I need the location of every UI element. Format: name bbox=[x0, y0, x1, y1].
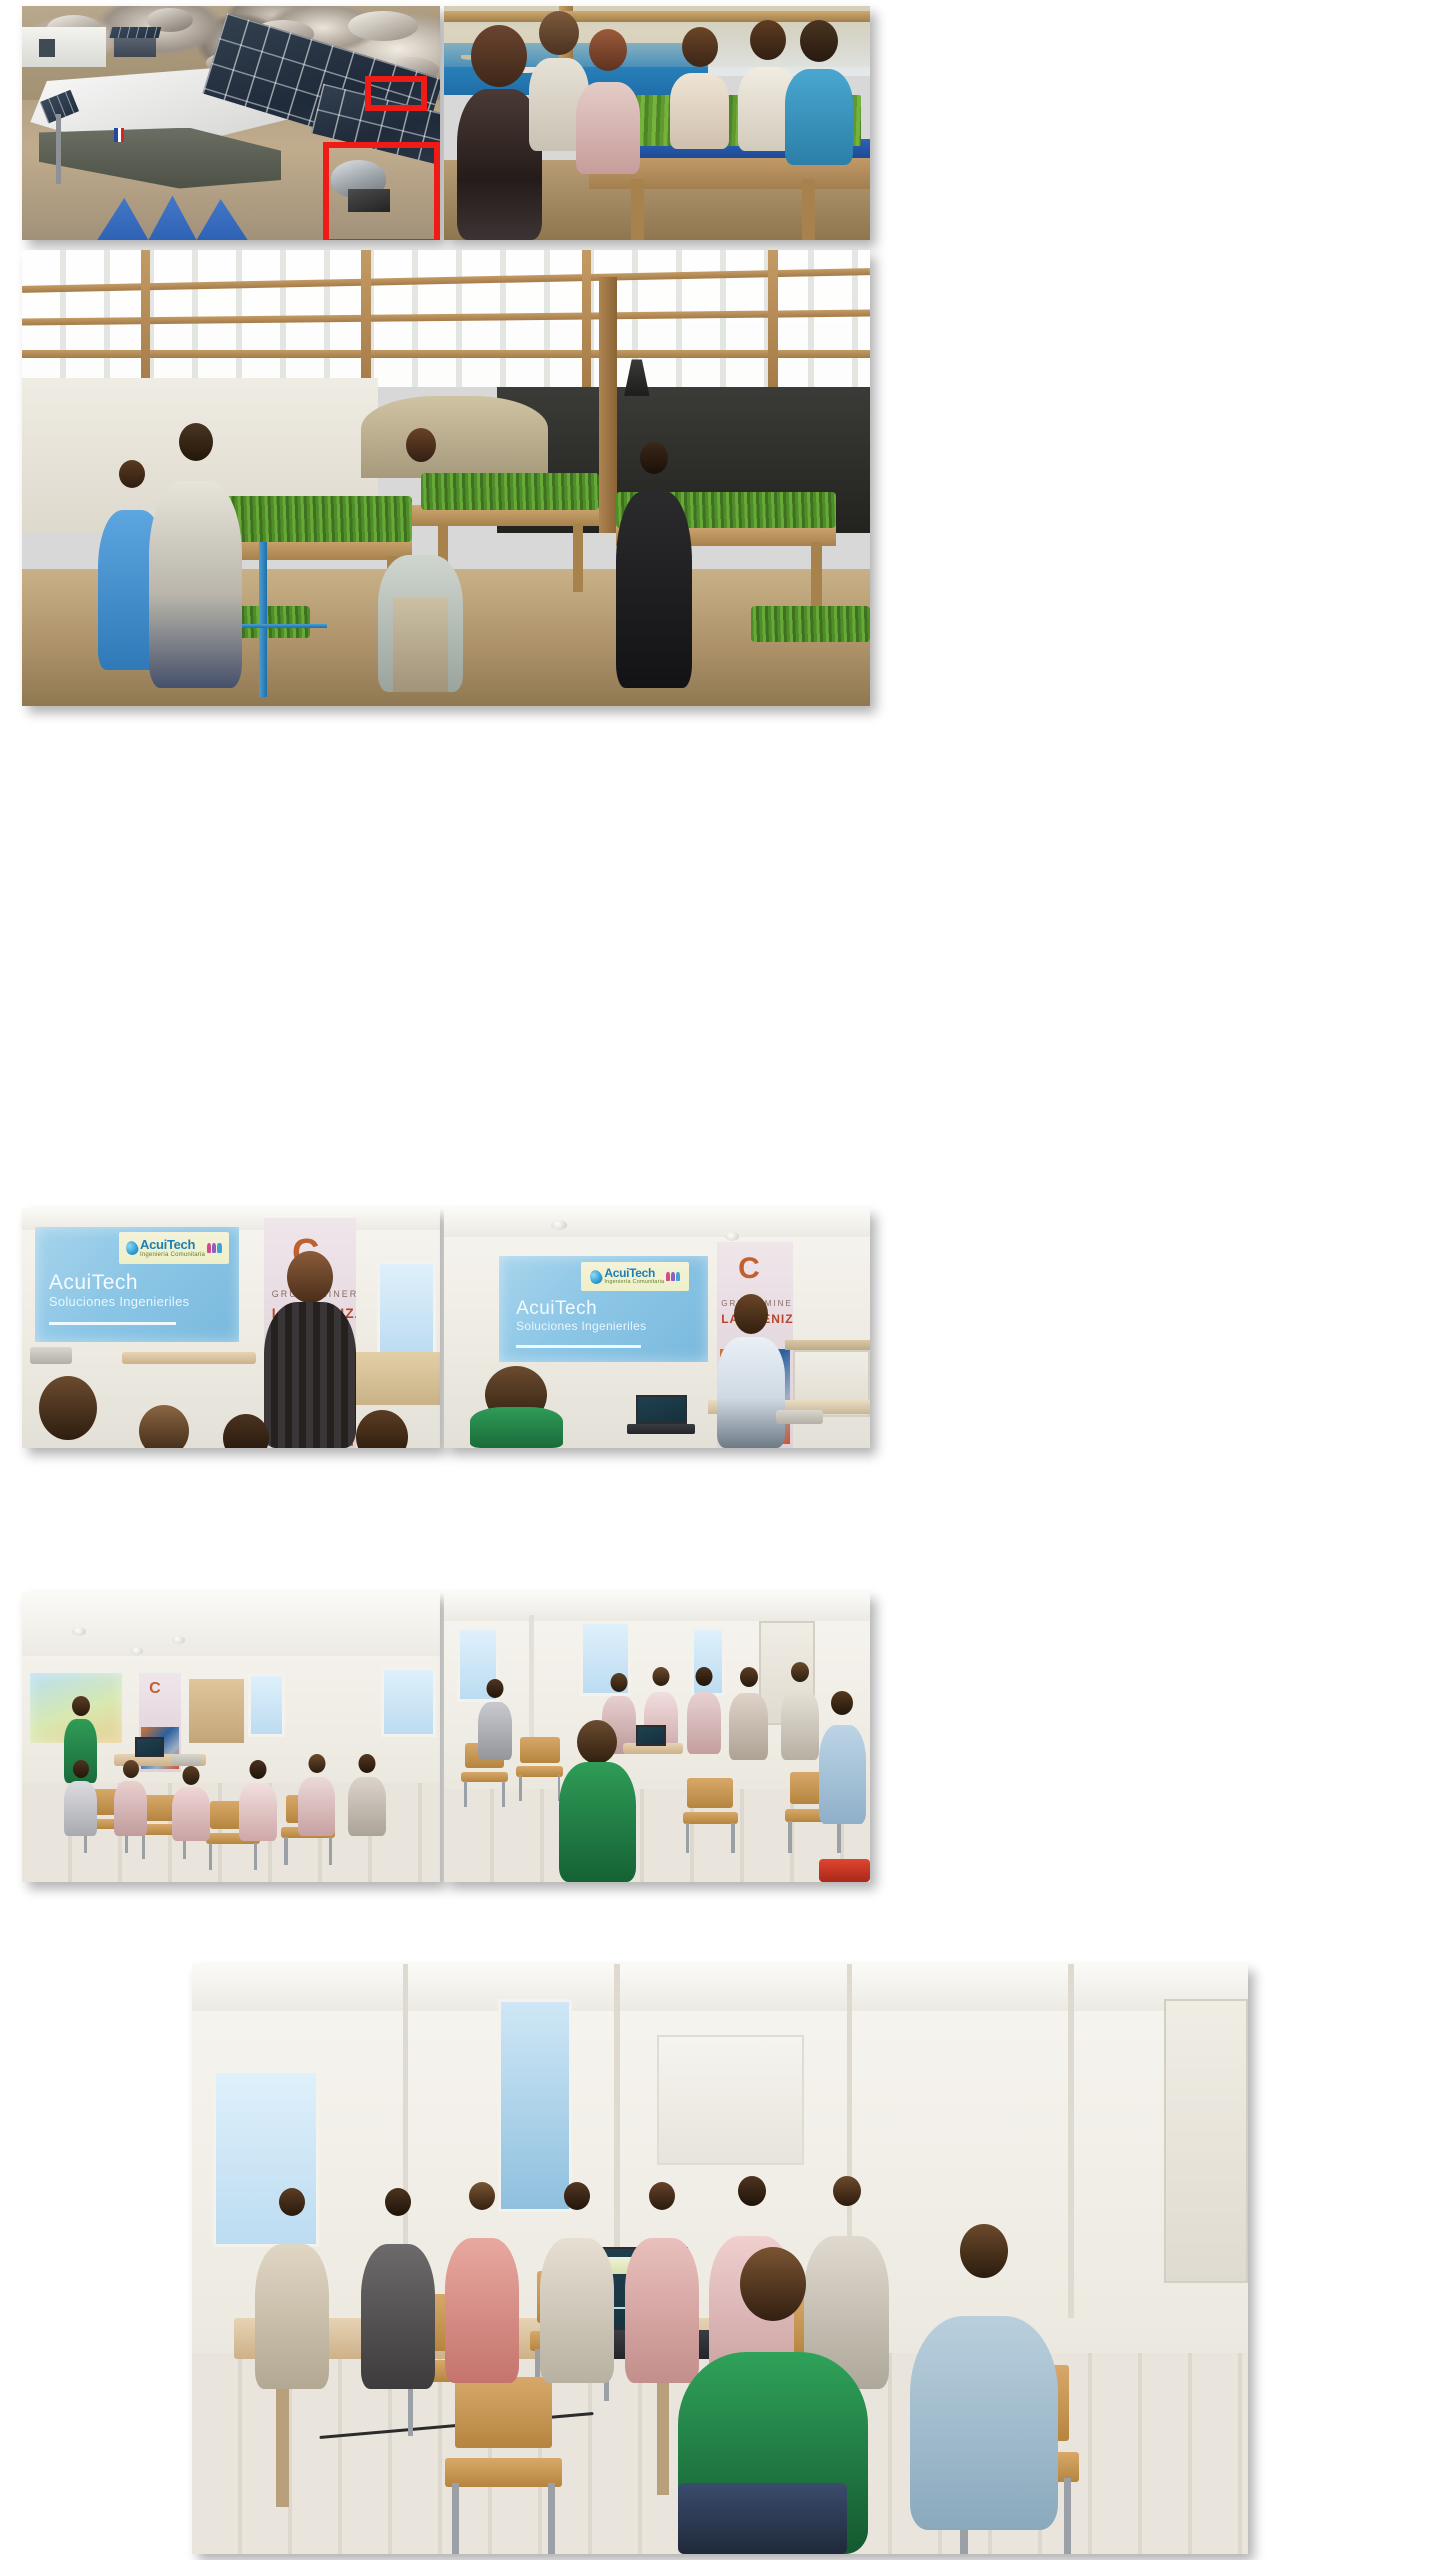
projector bbox=[776, 1410, 823, 1424]
participant bbox=[576, 29, 640, 174]
laptop-screen bbox=[135, 1737, 164, 1757]
annotation-box-enclosure bbox=[323, 142, 440, 240]
audience-member bbox=[781, 1662, 819, 1761]
audience-member bbox=[298, 1754, 336, 1835]
water-drop-icon bbox=[124, 1239, 140, 1256]
people-icon bbox=[207, 1243, 222, 1253]
water-drop-icon bbox=[588, 1268, 604, 1285]
audience-member bbox=[172, 1766, 210, 1841]
projector bbox=[172, 1754, 201, 1766]
slide-subtitle: Soluciones Ingenieriles bbox=[49, 1294, 190, 1309]
roof-beam bbox=[768, 250, 777, 387]
utility-shed bbox=[114, 36, 156, 57]
laptop-keyboard bbox=[627, 1424, 695, 1434]
participant bbox=[255, 2188, 329, 2389]
laptop-screen bbox=[636, 1395, 687, 1424]
photo-women-grow-table bbox=[444, 6, 870, 240]
participant-blue-shirt bbox=[910, 2224, 1058, 2531]
slide-title: AcuiTech bbox=[49, 1271, 138, 1295]
participant bbox=[445, 2182, 519, 2383]
participant bbox=[785, 20, 853, 165]
audience-member bbox=[239, 1760, 277, 1841]
window bbox=[381, 1667, 435, 1737]
projected-slide: AcuiTech Ingeniería Comunitaria AcuiTech… bbox=[35, 1227, 240, 1342]
building-window bbox=[39, 39, 56, 58]
front-table bbox=[122, 1352, 256, 1364]
window bbox=[248, 1673, 286, 1737]
chair bbox=[516, 1737, 563, 1801]
participant-foreground bbox=[470, 1366, 564, 1448]
roof-beam bbox=[361, 250, 370, 387]
annotation-box-controller bbox=[365, 76, 428, 111]
people-icon bbox=[666, 1272, 679, 1281]
slide-divider bbox=[49, 1322, 176, 1325]
background-building bbox=[22, 27, 106, 67]
cenizas-logo-mark: C bbox=[738, 1254, 760, 1284]
photo-classroom-wide: C bbox=[22, 1592, 440, 1882]
visitor-grey-jacket bbox=[149, 423, 242, 687]
audience-head bbox=[39, 1376, 97, 1440]
bench-leg bbox=[573, 524, 583, 592]
wall-divider bbox=[529, 1615, 534, 1743]
support-post bbox=[599, 277, 618, 532]
projected-slide: AcuiTech Ingeniería Comunitaria AcuiTech… bbox=[499, 1256, 708, 1362]
logo-word: AcuiTech bbox=[140, 1238, 205, 1252]
boulder bbox=[348, 11, 418, 41]
participant bbox=[670, 27, 730, 149]
photo-greenhouse-interior bbox=[22, 250, 870, 706]
audience-member bbox=[64, 1760, 97, 1835]
acuitech-logo: AcuiTech Ingeniería Comunitaria bbox=[119, 1232, 230, 1264]
logo-tagline: Ingeniería Comunitaria bbox=[140, 1252, 205, 1258]
projector bbox=[30, 1347, 72, 1364]
acuitech-logo: AcuiTech Ingeniería Comunitaria bbox=[581, 1262, 690, 1291]
irrigation-pipe bbox=[259, 542, 267, 697]
photo-presenter-female: AcuiTech Ingeniería Comunitaria AcuiTech… bbox=[444, 1208, 870, 1448]
wall-seam bbox=[1068, 1964, 1073, 2318]
photo-aerial-solar-plant bbox=[22, 6, 440, 240]
slide-title: AcuiTech bbox=[516, 1298, 597, 1320]
audience-member bbox=[729, 1667, 767, 1760]
light-pole bbox=[56, 114, 61, 184]
window bbox=[377, 1261, 436, 1357]
photo-presenter-male: AcuiTech Ingeniería Comunitaria AcuiTech… bbox=[22, 1208, 440, 1448]
audience-member bbox=[348, 1754, 386, 1835]
trousers bbox=[393, 597, 447, 692]
wall-cabinet bbox=[189, 1679, 243, 1743]
roof-beam bbox=[582, 250, 591, 387]
facilitator-trousers bbox=[678, 2483, 847, 2554]
crop-tray bbox=[751, 606, 870, 642]
smoke-detector-icon bbox=[551, 1220, 567, 1230]
photo-audience-circle bbox=[444, 1592, 870, 1882]
photo-collage: AcuiTech Ingeniería Comunitaria AcuiTech… bbox=[0, 0, 1440, 2560]
window bbox=[498, 1999, 572, 2211]
solar-panel-small bbox=[108, 27, 161, 38]
participant bbox=[540, 2182, 614, 2383]
smoke-detector-icon bbox=[131, 1647, 143, 1655]
female-presenter bbox=[717, 1294, 785, 1448]
chair bbox=[445, 2377, 561, 2554]
visitor-dark-clothes bbox=[616, 442, 692, 688]
red-bag bbox=[819, 1859, 870, 1882]
audience-member-blue bbox=[819, 1691, 866, 1824]
cenizas-logo-mark: C bbox=[149, 1681, 161, 1697]
logo-tagline: Ingeniería Comunitaria bbox=[604, 1280, 664, 1286]
smoke-detector-icon bbox=[72, 1627, 86, 1636]
slide-divider bbox=[516, 1345, 641, 1348]
table-leg bbox=[631, 179, 644, 240]
presenter-centre bbox=[378, 428, 463, 692]
smoke-detector-icon bbox=[172, 1636, 185, 1644]
roof-beam bbox=[141, 250, 150, 387]
wall-panel bbox=[356, 1352, 440, 1405]
male-presenter bbox=[264, 1251, 356, 1448]
participant bbox=[361, 2188, 435, 2389]
audience-member bbox=[478, 1679, 512, 1760]
door bbox=[1164, 1999, 1248, 2282]
audience-member bbox=[687, 1667, 721, 1754]
counter-top bbox=[785, 1340, 870, 1350]
slide-subtitle: Soluciones Ingenieriles bbox=[516, 1319, 646, 1333]
audience-member bbox=[114, 1760, 147, 1835]
wall-board bbox=[657, 2035, 805, 2165]
table-leg bbox=[802, 179, 815, 240]
laptop-screen bbox=[636, 1725, 666, 1745]
photo-workshop-table: AcuiTech bbox=[192, 1964, 1248, 2554]
flag bbox=[114, 128, 124, 142]
chair bbox=[683, 1778, 738, 1853]
